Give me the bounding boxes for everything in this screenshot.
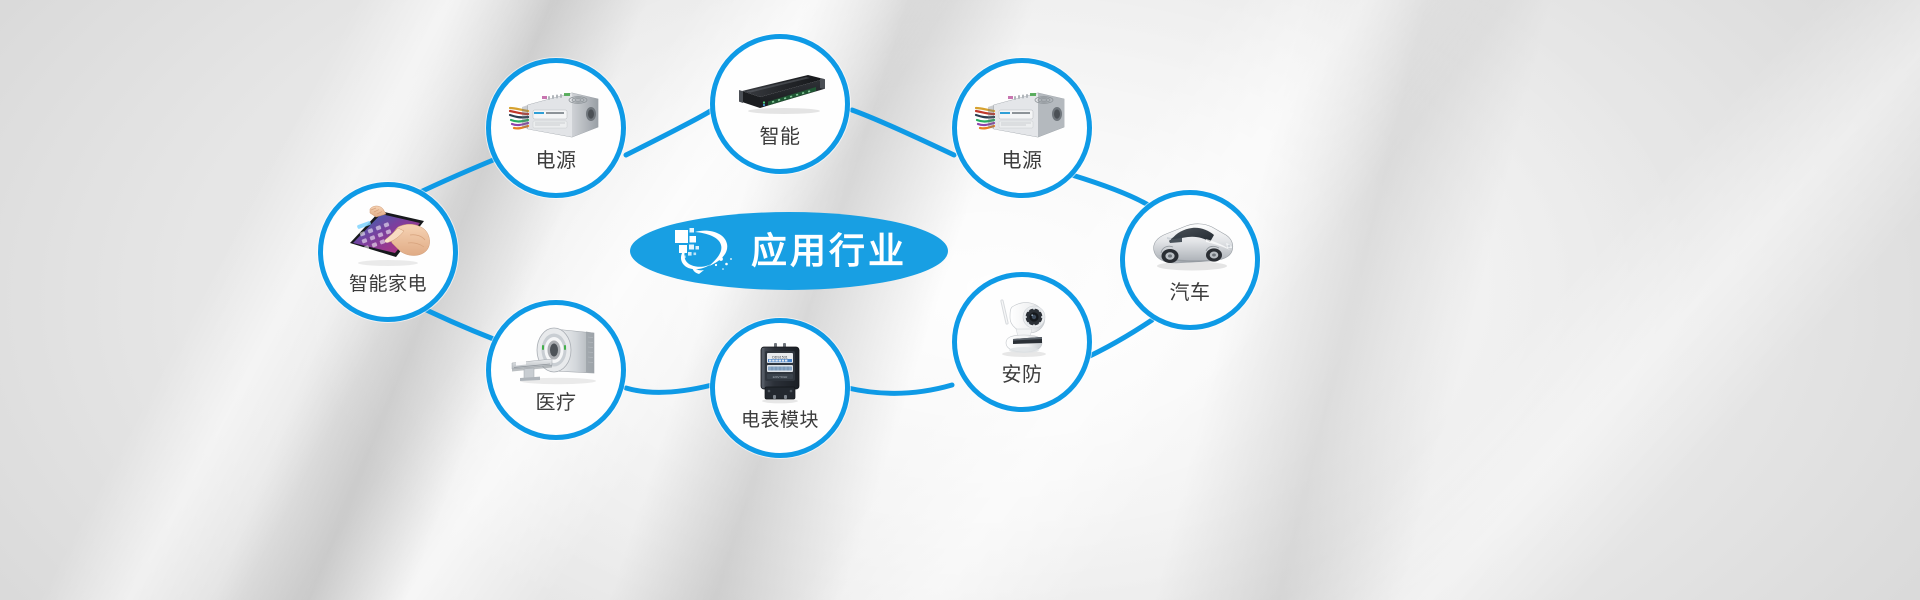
link-security-meter: [848, 385, 952, 393]
tablet-touch-hand-icon: [340, 201, 436, 271]
center-badge-label: 应用行业: [751, 233, 907, 269]
node-meter[interactable]: DDS1531 220V 50Hz: [710, 318, 850, 458]
node-smart[interactable]: 智能: [710, 34, 850, 174]
node-security[interactable]: 安防: [952, 272, 1092, 412]
node-power-left[interactable]: 电源: [486, 58, 626, 198]
electric-meter-icon: DDS1531 220V 50Hz: [732, 337, 828, 407]
node-smart-home[interactable]: 智能家电: [318, 182, 458, 322]
node-power-right[interactable]: 电源: [952, 58, 1092, 198]
ct-mri-scanner-icon: [508, 319, 604, 389]
atx-power-supply-icon: [974, 77, 1070, 147]
node-label: 电源: [1002, 151, 1043, 171]
link-meter-medical: [626, 385, 712, 392]
link-smart-power-right: [852, 110, 954, 155]
atx-power-supply-icon: [508, 77, 604, 147]
node-label: 智能家电: [349, 275, 427, 294]
ptz-ip-camera-icon: [974, 291, 1070, 361]
node-label: 汽车: [1170, 283, 1211, 303]
node-label: 智能: [760, 127, 801, 147]
node-medical[interactable]: 医疗: [486, 300, 626, 440]
node-label: 电源: [536, 151, 577, 171]
swoosh-pixel-orbit-logo: [671, 226, 737, 276]
center-badge[interactable]: 应用行业: [630, 212, 948, 290]
node-label: 安防: [1002, 365, 1043, 385]
application-industries-diagram: 电源: [0, 0, 1920, 600]
svg-text:220V 50Hz: 220V 50Hz: [773, 375, 788, 379]
node-label: 医疗: [536, 393, 577, 413]
connector-lines: [0, 0, 1920, 600]
node-automotive[interactable]: 汽车: [1120, 190, 1260, 330]
link-power-left-smart: [626, 110, 712, 155]
sports-car-icon: [1142, 209, 1238, 279]
node-label: 电表模块: [741, 411, 819, 430]
rack-server-icon: [732, 53, 828, 123]
